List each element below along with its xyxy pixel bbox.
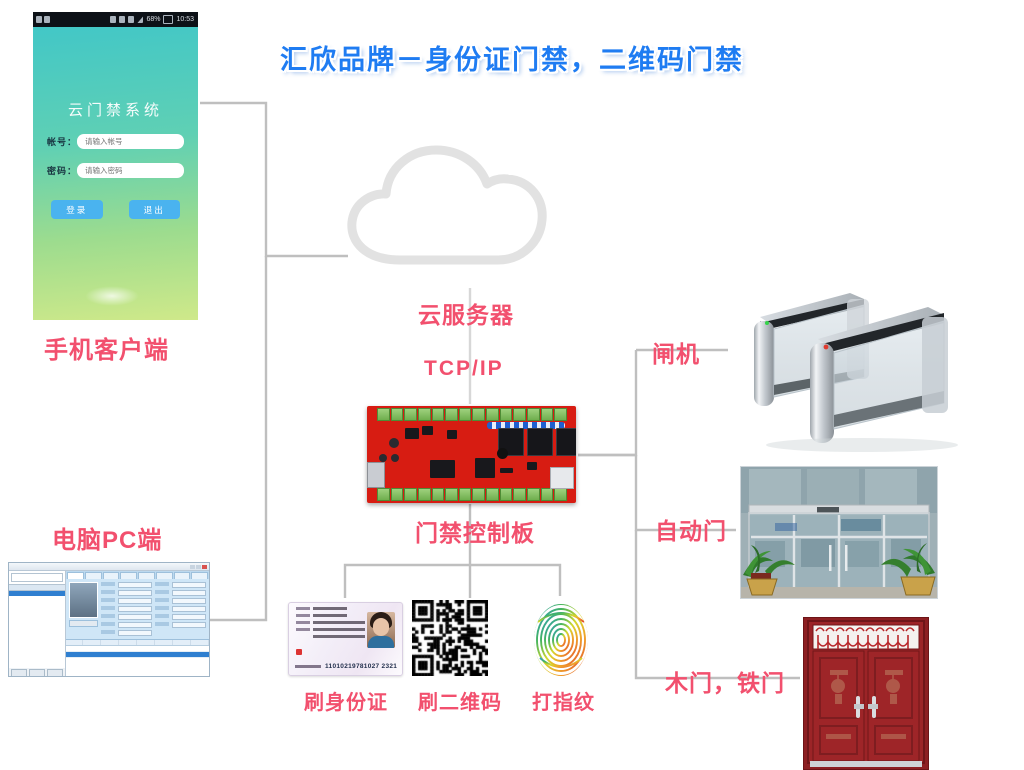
id-number-row: 11010219781027 2321	[295, 663, 397, 670]
pc-field-row	[155, 614, 206, 620]
pc-list-header	[9, 584, 65, 591]
pc-field-label	[155, 614, 169, 618]
account-input[interactable]	[77, 134, 184, 149]
pc-field-row	[155, 590, 206, 596]
id-portrait	[367, 612, 395, 648]
pc-tab-4[interactable]	[120, 572, 137, 579]
ethernet-port	[550, 467, 574, 489]
id-card-image: 11010219781027 2321	[288, 602, 403, 676]
pc-tab-6[interactable]	[156, 572, 173, 579]
pc-client-mockup	[8, 562, 210, 677]
minimize-icon[interactable]	[190, 565, 195, 569]
pc-field-row	[155, 582, 206, 588]
pc-field-input[interactable]	[118, 614, 152, 620]
account-label: 帐号：	[47, 135, 77, 148]
terminal-block-bottom	[377, 488, 567, 501]
pc-field-label	[155, 590, 169, 594]
password-input[interactable]	[77, 163, 184, 178]
pc-main-panel	[66, 571, 209, 677]
turnstile-caption: 闸机	[652, 335, 700, 369]
clock-icon	[44, 16, 50, 23]
pc-field-input[interactable]	[172, 614, 206, 620]
cloud-server-caption: 云服务器	[418, 296, 514, 330]
controller-caption: 门禁控制板	[415, 514, 535, 548]
close-icon[interactable]	[202, 565, 207, 569]
pc-field-label	[101, 606, 115, 610]
pc-field-row	[101, 606, 152, 612]
pc-tab-8[interactable]	[191, 572, 208, 579]
qr-code-image	[412, 600, 488, 676]
pc-tab-bar	[66, 571, 209, 579]
pc-field-row	[101, 630, 152, 636]
pc-field-input[interactable]	[172, 598, 206, 604]
power-jack	[367, 462, 385, 488]
pc-client-caption: 电脑PC端	[52, 520, 162, 555]
relay-3	[556, 428, 576, 456]
pc-field-label	[101, 590, 115, 594]
ic-chip-c	[447, 430, 457, 439]
id-card-caption: 刷身份证	[304, 686, 388, 715]
ic-chip-e	[500, 468, 513, 473]
id-name-row	[296, 607, 402, 610]
pc-search-input[interactable]	[11, 573, 63, 582]
person-photo	[69, 582, 98, 618]
pc-field-input[interactable]	[118, 622, 152, 628]
automatic-door-image	[740, 466, 938, 599]
capacitor-2	[379, 454, 387, 462]
app-title: 云门禁系统	[33, 99, 198, 120]
pc-field-input[interactable]	[172, 590, 206, 596]
pc-tab-1[interactable]	[67, 572, 84, 579]
window-controls	[190, 565, 207, 569]
pc-field-input[interactable]	[118, 598, 152, 604]
password-field-row: 密码：	[47, 163, 184, 178]
pc-field-label	[155, 582, 169, 586]
pc-field-label	[101, 630, 115, 634]
ic-chip-a	[405, 428, 419, 439]
pc-field-label	[101, 614, 115, 618]
capacitor-3	[391, 454, 399, 462]
pc-list-body	[9, 596, 65, 668]
wood-iron-door-caption: 木门，铁门	[665, 664, 785, 698]
fingerprint-caption: 打指纹	[532, 686, 595, 715]
logout-button[interactable]: 退出	[129, 200, 181, 219]
pc-photo-column	[69, 582, 98, 636]
pc-tab-3[interactable]	[103, 572, 120, 579]
login-button[interactable]: 登录	[51, 200, 103, 219]
pc-field-row	[101, 622, 152, 628]
pc-person-form	[66, 579, 209, 639]
pc-field-row	[101, 590, 152, 596]
id-number-value: 11010219781027 2321	[325, 663, 397, 670]
status-clock: 10:53	[176, 16, 194, 23]
phone-button-row: 登录 退出	[51, 200, 180, 219]
pc-tab-5[interactable]	[138, 572, 155, 579]
signal-icon	[137, 16, 143, 23]
capacitor-1	[389, 438, 399, 448]
fingerprint-icon	[530, 598, 592, 678]
alarm-icon	[119, 16, 125, 23]
pc-field-label	[101, 582, 115, 586]
pc-form-fields-right	[155, 582, 206, 636]
photo-capture-button[interactable]	[69, 620, 98, 627]
turnstile-image	[732, 277, 1018, 457]
pc-field-label	[101, 598, 115, 602]
pc-button-1[interactable]	[11, 669, 27, 677]
pc-button-3[interactable]	[47, 669, 63, 677]
ic-chip-b	[422, 426, 433, 435]
wifi-icon	[128, 16, 134, 23]
terminal-block-top	[377, 408, 567, 421]
password-label: 密码：	[47, 164, 77, 177]
pc-field-row	[155, 622, 206, 628]
pc-field-input[interactable]	[118, 606, 152, 612]
pc-field-input[interactable]	[118, 582, 152, 588]
phone-status-bar: 68% 10:53	[33, 12, 198, 27]
screen-glow	[85, 286, 139, 306]
maximize-icon[interactable]	[196, 565, 201, 569]
id-number-label	[295, 665, 321, 668]
mobile-client-mockup: 68% 10:53 云门禁系统 帐号： 密码： 登录 退出	[33, 12, 198, 320]
diagram-canvas: 汇欣品牌－身份证门禁，二维码门禁 68% 10:53 云门禁系统 帐号： 密码：	[0, 0, 1024, 768]
pc-tab-2[interactable]	[85, 572, 102, 579]
pc-field-input[interactable]	[118, 630, 152, 636]
pc-window-titlebar	[9, 563, 209, 571]
battery-percent: 68%	[146, 16, 160, 23]
qr-code-caption: 刷二维码	[418, 686, 502, 715]
pc-field-input[interactable]	[172, 622, 206, 628]
pc-field-label	[155, 622, 169, 626]
buzzer	[497, 448, 508, 459]
pc-field-input[interactable]	[172, 606, 206, 612]
pc-field-row	[155, 598, 206, 604]
pc-window-body	[9, 571, 209, 677]
pc-button-2[interactable]	[29, 669, 45, 677]
pc-field-input[interactable]	[118, 590, 152, 596]
ic-chip-d	[527, 462, 537, 470]
pc-field-input[interactable]	[172, 582, 206, 588]
battery-icon	[163, 15, 173, 24]
pc-field-row	[101, 582, 152, 588]
pc-table-body	[66, 658, 209, 677]
pc-field-label	[155, 606, 169, 610]
pc-field-label	[101, 622, 115, 626]
cloud-server-icon	[330, 110, 570, 280]
pc-field-row	[155, 606, 206, 612]
protocol-label: TCP/IP	[424, 357, 504, 381]
android-icon	[36, 16, 42, 23]
relay-2	[527, 428, 553, 456]
access-control-board	[367, 406, 576, 503]
pc-records-table	[66, 639, 209, 677]
account-field-row: 帐号：	[47, 134, 184, 149]
cpu-chip	[475, 458, 495, 478]
pc-tab-7[interactable]	[174, 572, 191, 579]
pc-form-fields-left	[101, 582, 152, 636]
automatic-door-caption: 自动门	[655, 512, 727, 546]
pc-field-label	[155, 598, 169, 602]
status-left-icons	[36, 16, 50, 23]
mcu-chip	[430, 460, 455, 478]
pc-field-row	[101, 614, 152, 620]
mobile-client-caption: 手机客户端	[44, 330, 169, 365]
id-seal-icon	[296, 649, 302, 655]
pc-sidebar	[9, 571, 66, 677]
pc-field-row	[101, 598, 152, 604]
bluetooth-icon	[110, 16, 116, 23]
wood-iron-door-image	[803, 617, 929, 770]
pc-sidebar-buttons	[9, 668, 65, 677]
